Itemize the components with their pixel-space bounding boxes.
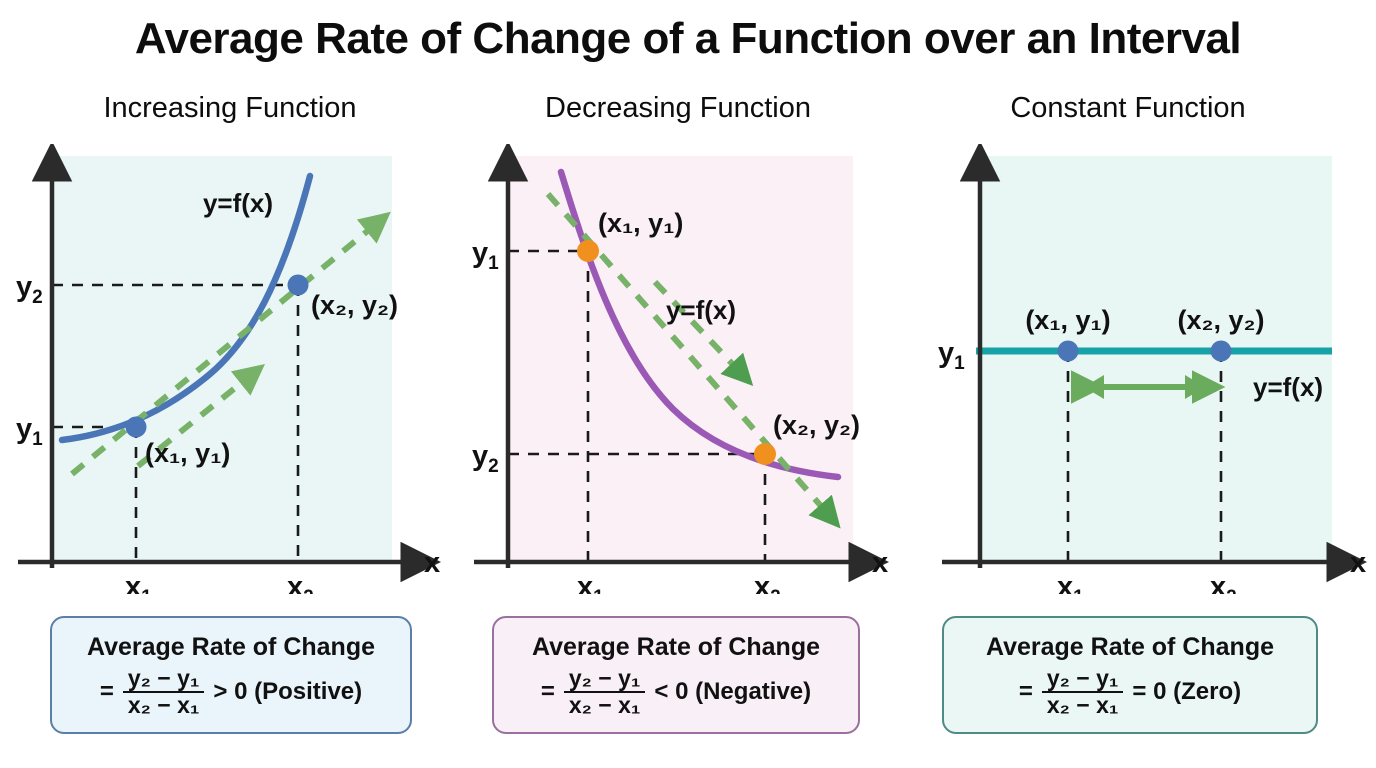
formula-expression: = y₂ − y₁ x₂ − x₁ = 0 (Zero) — [1019, 667, 1241, 718]
panel-subtitle: Constant Function — [908, 92, 1348, 125]
formula-denominator: x₂ − x₁ — [564, 691, 646, 717]
x-tick-label-x1: x1 — [577, 571, 604, 594]
formula-relation: < 0 (Negative) — [654, 678, 811, 706]
formula-box-decreasing: Average Rate of Change = y₂ − y₁ x₂ − x₁… — [492, 616, 860, 734]
y-tick-label-y1: y1 — [16, 413, 43, 450]
panel-increasing-function: Increasing Function — [10, 92, 450, 762]
formula-heading: Average Rate of Change — [87, 633, 375, 662]
point-label-1: (x₁, y₁) — [598, 208, 683, 238]
curve-label: y=f(x) — [1253, 372, 1323, 402]
formula-equals: = — [100, 678, 114, 706]
formula-relation: = 0 (Zero) — [1132, 678, 1241, 706]
chart-constant-function: (x₁, y₁) (x₂, y₂) y=f(x) x y1 x1 x2 — [908, 144, 1348, 594]
formula-box-increasing: Average Rate of Change = y₂ − y₁ x₂ − x₁… — [50, 616, 412, 734]
x-axis-label: x — [1350, 547, 1366, 579]
curve-label: y=f(x) — [203, 188, 273, 218]
chart-increasing-function: y=f(x) (x₂, y₂) (x₁, y₁) x y2 y1 x1 x2 — [10, 144, 450, 594]
x-axis-label: x — [424, 547, 440, 579]
x-tick-label-x2: x2 — [287, 571, 314, 594]
formula-denominator: x₂ − x₁ — [1042, 691, 1124, 717]
point-label-1: (x₁, y₁) — [1025, 305, 1110, 335]
formula-heading: Average Rate of Change — [532, 633, 820, 662]
formula-expression: = y₂ − y₁ x₂ − x₁ < 0 (Negative) — [541, 667, 811, 718]
formula-fraction: y₂ − y₁ x₂ − x₁ — [564, 667, 646, 718]
x-axis-label: x — [872, 547, 888, 579]
y-tick-label-y2: y2 — [472, 440, 499, 477]
formula-numerator: y₂ − y₁ — [123, 667, 205, 691]
formula-equals: = — [541, 678, 555, 706]
point-label-2: (x₂, y₂) — [1177, 305, 1264, 335]
point-marker-1 — [1058, 341, 1079, 362]
curve-label: y=f(x) — [666, 295, 736, 325]
panel-subtitle: Increasing Function — [10, 92, 450, 125]
x-tick-label-x1: x1 — [1057, 571, 1084, 594]
point-label-2: (x₂, y₂) — [311, 290, 398, 320]
point-marker-2 — [288, 275, 309, 296]
formula-relation: > 0 (Positive) — [213, 678, 362, 706]
y-tick-label-y1: y1 — [472, 237, 499, 274]
formula-box-constant: Average Rate of Change = y₂ − y₁ x₂ − x₁… — [942, 616, 1318, 734]
point-marker-1 — [577, 240, 599, 262]
formula-heading: Average Rate of Change — [986, 633, 1274, 662]
point-marker-1 — [126, 417, 147, 438]
y-tick-label-y1: y1 — [938, 337, 965, 374]
point-marker-2 — [1211, 341, 1232, 362]
x-tick-label-x2: x2 — [1210, 571, 1237, 594]
page-title: Average Rate of Change of a Function ove… — [0, 14, 1376, 64]
chart-decreasing-function: (x₁, y₁) y=f(x) (x₂, y₂) x y1 y2 x1 x2 — [458, 144, 898, 594]
formula-numerator: y₂ − y₁ — [564, 667, 646, 691]
panel-subtitle: Decreasing Function — [458, 92, 898, 125]
point-marker-2 — [754, 443, 776, 465]
formula-denominator: x₂ − x₁ — [123, 691, 205, 717]
formula-numerator: y₂ − y₁ — [1042, 667, 1124, 691]
y-tick-label-y2: y2 — [16, 271, 43, 308]
x-tick-label-x2: x2 — [754, 571, 781, 594]
formula-expression: = y₂ − y₁ x₂ − x₁ > 0 (Positive) — [100, 667, 362, 718]
formula-equals: = — [1019, 678, 1033, 706]
x-tick-label-x1: x1 — [125, 571, 152, 594]
plot-background — [980, 156, 1332, 562]
formula-fraction: y₂ − y₁ x₂ − x₁ — [1042, 667, 1124, 718]
formula-fraction: y₂ − y₁ x₂ − x₁ — [123, 667, 205, 718]
point-label-1: (x₁, y₁) — [145, 438, 230, 468]
panel-decreasing-function: Decreasing Function (x — [458, 92, 898, 762]
point-label-2: (x₂, y₂) — [773, 410, 860, 440]
panel-constant-function: Constant Function — [908, 92, 1348, 762]
